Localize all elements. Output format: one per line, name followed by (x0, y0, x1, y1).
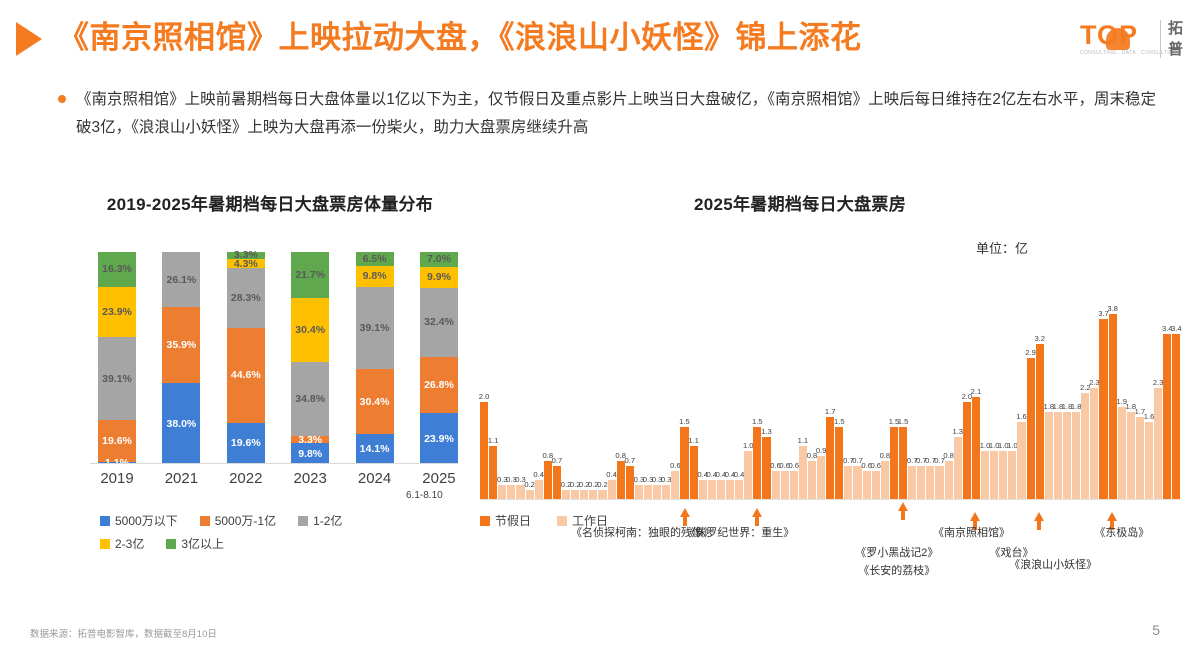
daily-bar: 3.8 (1109, 314, 1117, 500)
segment-value-label: 39.1% (360, 322, 390, 334)
x-axis-label: 2021 (162, 470, 200, 487)
daily-bar-fill (1054, 412, 1062, 500)
daily-bar-value-label: 1.0 (1007, 441, 1018, 450)
daily-bar-fill (772, 471, 780, 500)
unit-label: 单位：亿 (976, 238, 1028, 257)
stacked-segment: 16.3% (98, 252, 136, 287)
stacked-segment: 21.7% (291, 252, 329, 298)
daily-bar: 1.7 (826, 417, 834, 500)
film-annotation-label: 《浪浪山小妖怪》 (1009, 556, 1097, 572)
daily-bar: 0.2 (580, 490, 588, 500)
segment-value-label: 6.5% (363, 253, 387, 265)
daily-bar-fill (617, 461, 625, 500)
daily-bar-fill (926, 466, 934, 500)
daily-bar-value-label: 1.7 (825, 407, 836, 416)
daily-bar-fill (708, 480, 716, 500)
daily-bar-fill (489, 446, 497, 500)
legend-label: 5000万-1亿 (215, 512, 276, 529)
daily-bar-fill (735, 480, 743, 500)
daily-bar-fill (935, 466, 943, 500)
film-annotation-label: 《南京照相馆》 (933, 524, 1010, 540)
daily-bar-value-label: 0.6 (870, 461, 881, 470)
daily-bar-fill (908, 466, 916, 500)
segment-value-label: 7.0% (427, 253, 451, 265)
legend-item[interactable]: 5000万-1亿 (200, 512, 276, 529)
daily-bar: 0.3 (507, 485, 515, 500)
daily-bar-fill (1017, 422, 1025, 500)
daily-bar: 0.3 (662, 485, 670, 500)
daily-bar-fill (781, 471, 789, 500)
segment-value-label: 38.0% (167, 418, 197, 430)
up-arrow-icon (1107, 512, 1117, 521)
segment-value-label: 44.6% (231, 369, 261, 381)
legend-swatch-icon (166, 539, 176, 549)
daily-bar-value-label: 1.3 (952, 427, 963, 436)
daily-bar-fill (1163, 334, 1171, 500)
segment-value-label: 21.7% (295, 269, 325, 281)
daily-bar-fill (1027, 358, 1035, 500)
segment-value-label: 28.3% (231, 292, 261, 304)
daily-bar: 0.4 (699, 480, 707, 500)
daily-bar-fill (1063, 412, 1071, 500)
film-annotation-label: 《长安的荔枝》 (858, 562, 935, 578)
segment-value-label: 14.1% (360, 443, 390, 455)
daily-bar: 0.7 (935, 466, 943, 500)
daily-bar: 0.2 (598, 490, 606, 500)
slide-header: 《南京照相馆》上映拉动大盘，《浪浪山小妖怪》锦上添花 TOP CONSULTIN… (0, 0, 1200, 78)
x-axis-label: 2019 (98, 470, 136, 487)
stacked-segment: 4.3% (227, 259, 265, 268)
daily-bar-fill (589, 490, 597, 500)
legend-row: 2-3亿3亿以上 (100, 535, 490, 552)
film-annotation-label: 《东极岛》 (1094, 524, 1149, 540)
stacked-column: 21.7%30.4%34.8%3.3%9.8% (291, 252, 329, 464)
stacked-segment: 30.4% (356, 369, 394, 433)
daily-bar: 1.0 (744, 451, 752, 500)
segment-value-label: 9.9% (427, 271, 451, 283)
daily-bar-value-label: 1.3 (761, 427, 772, 436)
daily-bar-fill (753, 427, 761, 500)
segment-value-label: 39.1% (102, 373, 132, 385)
daily-bar: 0.4 (608, 480, 616, 500)
stacked-column: 26.1%35.9%38.0% (162, 252, 200, 464)
up-arrow-icon (970, 512, 980, 521)
stacked-segment: 19.6% (98, 420, 136, 462)
daily-bar: 0.3 (644, 485, 652, 500)
film-annotation-label: 《罗小黑战记2》 (855, 544, 938, 560)
film-annotations: 《名侦探柯南：独眼的残像》《侏罗纪世界：重生》《罗小黑战记2》《长安的荔枝》《戏… (470, 500, 1200, 600)
daily-bar-fill (872, 471, 880, 500)
source-note: 数据来源：拓普电影智库，数据截至8月10日 (30, 626, 217, 640)
daily-bar: 0.8 (808, 461, 816, 500)
stacked-segment: 9.8% (356, 266, 394, 287)
slide: 《南京照相馆》上映拉动大盘，《浪浪山小妖怪》锦上添花 TOP CONSULTIN… (0, 0, 1200, 670)
stacked-segment: 35.9% (162, 307, 200, 383)
daily-bar-value-label: 2.9 (1025, 348, 1036, 357)
chart-title-right: 2025年暑期档每日大盘票房 (400, 190, 1200, 215)
legend-label: 2-3亿 (115, 535, 144, 552)
daily-bar-value-label: 3.8 (1107, 304, 1118, 313)
daily-bar-value-label: 0.8 (880, 451, 891, 460)
daily-bar-fill (571, 490, 579, 500)
daily-bar: 0.7 (853, 466, 861, 500)
daily-bar-value-label: 1.5 (679, 417, 690, 426)
daily-bar: 0.7 (908, 466, 916, 500)
daily-bar: 0.2 (571, 490, 579, 500)
segment-value-label: 34.8% (295, 393, 325, 405)
stacked-segment: 39.1% (356, 287, 394, 370)
daily-bar-fill (653, 485, 661, 500)
daily-bar: 2.0 (480, 402, 488, 500)
daily-bar-fill (1145, 422, 1153, 500)
daily-bar-fill (990, 451, 998, 500)
daily-bar: 0.8 (881, 461, 889, 500)
stacked-segment: 32.4% (420, 288, 458, 357)
legend-item[interactable]: 5000万以下 (100, 512, 178, 529)
legend-swatch-icon (100, 539, 110, 549)
stacked-segment: 34.8% (291, 362, 329, 436)
daily-bar: 0.7 (844, 466, 852, 500)
daily-bar-fill (1045, 412, 1053, 500)
daily-bar: 1.8 (1127, 412, 1135, 500)
logo-cn-text: 拓普 (1168, 18, 1192, 60)
daily-bar: 1.3 (954, 437, 962, 500)
segment-value-label: 35.9% (167, 339, 197, 351)
segment-value-label: 19.6% (231, 437, 261, 449)
legend-label: 3亿以上 (181, 535, 224, 552)
daily-bar: 0.6 (872, 471, 880, 500)
daily-bar-fill (963, 402, 971, 500)
x-axis-sublabel-2025: 6.1-8.10 (406, 490, 443, 501)
daily-bar: 0.8 (945, 461, 953, 500)
daily-bar-fill (844, 466, 852, 500)
daily-bar-fill (954, 437, 962, 500)
stacked-segment: 23.9% (98, 287, 136, 338)
daily-bar-fill (544, 461, 552, 500)
daily-bar-fill (717, 480, 725, 500)
daily-bar-fill (945, 461, 953, 500)
daily-bar-value-label: 0.4 (734, 470, 745, 479)
x-axis-label: 2024 (356, 470, 394, 487)
stacked-segment: 7.0% (420, 252, 458, 267)
daily-bar-fill (1109, 314, 1117, 500)
legend-label: 1-2亿 (313, 512, 342, 529)
daily-bar-value-label: 0.4 (606, 470, 617, 479)
daily-bar-fill (1118, 407, 1126, 500)
daily-bar-fill (635, 485, 643, 500)
logo-subtext: CONSULTING . DATA . CONSULTING (1080, 50, 1177, 56)
daily-bar-fill (744, 451, 752, 500)
daily-bar: 3.7 (1099, 319, 1107, 500)
daily-bar-fill (817, 456, 825, 500)
film-annotation-label: 《侏罗纪世界：重生》 (684, 524, 794, 540)
daily-bar: 1.6 (1145, 422, 1153, 500)
segment-value-label: 9.8% (298, 448, 322, 460)
daily-bar-fill (671, 471, 679, 500)
daily-bar: 0.7 (926, 466, 934, 500)
daily-bar: 1.9 (1118, 407, 1126, 500)
x-axis-label: 2025 (420, 470, 458, 487)
daily-bar: 1.1 (489, 446, 497, 500)
daily-bar: 1.0 (1008, 451, 1016, 500)
daily-bar: 0.6 (863, 471, 871, 500)
daily-bar-fill (1172, 334, 1180, 500)
daily-bar: 0.3 (498, 485, 506, 500)
daily-bar-value-label: 1.5 (752, 417, 763, 426)
daily-bar-fill (562, 490, 570, 500)
stacked-segment: 3.3% (291, 436, 329, 443)
segment-value-label: 1.1% (105, 457, 129, 469)
daily-bar-fill (917, 466, 925, 500)
daily-bar: 1.7 (1136, 417, 1144, 500)
bullet-text: 《南京照相馆》上映前暑期档每日大盘体量以1亿以下为主，仅节假日及重点影片上映当日… (76, 86, 1156, 142)
brand-logo: TOP CONSULTING . DATA . CONSULTING 拓普 (1080, 14, 1192, 66)
daily-bar-fill (580, 490, 588, 500)
title-arrow-icon (16, 22, 42, 56)
daily-bar-value-label: 1.6 (1016, 412, 1027, 421)
daily-bar: 0.3 (635, 485, 643, 500)
daily-bars: 2.01.10.30.30.30.20.40.80.70.20.20.20.20… (480, 290, 1180, 500)
daily-bar-fill (498, 485, 506, 500)
daily-bar: 0.9 (817, 456, 825, 500)
daily-bar: 3.4 (1163, 334, 1171, 500)
daily-bar: 0.3 (653, 485, 661, 500)
daily-bar-value-label: 0.8 (943, 451, 954, 460)
daily-bar: 0.6 (781, 471, 789, 500)
daily-bar-value-label: 0.7 (625, 456, 636, 465)
daily-bar-value-label: 2.1 (971, 387, 982, 396)
stacked-segment: 26.8% (420, 357, 458, 414)
legend-swatch-icon (298, 516, 308, 526)
daily-bar-value-label: 1.6 (1144, 412, 1155, 421)
logo-divider (1160, 20, 1161, 58)
daily-bar: 0.4 (708, 480, 716, 500)
daily-bar-fill (507, 485, 515, 500)
segment-value-label: 26.1% (167, 274, 197, 286)
daily-bar: 1.0 (981, 451, 989, 500)
x-axis-label: 2022 (227, 470, 265, 487)
daily-bar-fill (1008, 451, 1016, 500)
daily-bar: 0.6 (772, 471, 780, 500)
stacked-segment: 38.0% (162, 383, 200, 464)
daily-bar: 1.0 (999, 451, 1007, 500)
daily-bar: 0.2 (589, 490, 597, 500)
stacked-segment: 44.6% (227, 328, 265, 422)
daily-bar-value-label: 1.1 (798, 436, 809, 445)
stacked-segment: 14.1% (356, 434, 394, 464)
legend-swatch-icon (100, 516, 110, 526)
stacked-segment: 30.4% (291, 298, 329, 362)
daily-bar: 0.2 (526, 490, 534, 500)
x-axis-label: 2023 (291, 470, 329, 487)
stacked-segment: 9.9% (420, 267, 458, 288)
daily-bar-fill (1127, 412, 1135, 500)
daily-bar-fill (853, 466, 861, 500)
stacked-segment: 1.1% (98, 462, 136, 464)
daily-bar-value-label: 1.0 (743, 441, 754, 450)
daily-bar-fill (826, 417, 834, 500)
daily-bar: 1.0 (990, 451, 998, 500)
daily-bar-fill (608, 480, 616, 500)
daily-bar-fill (644, 485, 652, 500)
daily-bar-value-label: 2.0 (479, 392, 490, 401)
daily-bar-value-label: 2.3 (1153, 378, 1164, 387)
daily-bar-fill (1136, 417, 1144, 500)
stacked-segment: 6.5% (356, 252, 394, 266)
daily-bar-fill (999, 451, 1007, 500)
daily-bar-fill (1036, 344, 1044, 500)
daily-bar-fill (662, 485, 670, 500)
daily-bar-value-label: 3.4 (1171, 324, 1182, 333)
up-arrow-icon (898, 502, 908, 511)
daily-bar: 1.5 (890, 427, 898, 500)
daily-bar-value-label: 0.2 (524, 480, 535, 489)
daily-bar: 0.6 (671, 471, 679, 500)
daily-bar-value-label: 0.7 (552, 456, 563, 465)
daily-bar-fill (726, 480, 734, 500)
up-arrow-icon (1034, 512, 1044, 521)
logo-blob-icon (1106, 28, 1130, 50)
page-number: 5 (1152, 622, 1160, 638)
stacked-segment: 9.8% (291, 443, 329, 464)
daily-bar-value-label: 1.8 (1071, 402, 1082, 411)
daily-bar-fill (598, 490, 606, 500)
up-arrow-icon (752, 508, 762, 517)
daily-bar: 2.9 (1027, 358, 1035, 500)
daily-bar-fill (535, 480, 543, 500)
daily-bar: 0.2 (562, 490, 570, 500)
daily-bar: 0.8 (544, 461, 552, 500)
daily-bar: 1.6 (1017, 422, 1025, 500)
daily-bar-value-label: 0.3 (661, 475, 672, 484)
daily-bar: 0.8 (617, 461, 625, 500)
stacked-bar-plot: 16.3%23.9%39.1%19.6%1.1%26.1%35.9%38.0%3… (98, 252, 458, 464)
legend-label: 5000万以下 (115, 512, 178, 529)
daily-bar: 0.4 (726, 480, 734, 500)
legend-item[interactable]: 1-2亿 (298, 512, 342, 529)
stacked-legend: 5000万以下5000万-1亿1-2亿2-3亿3亿以上 (100, 512, 490, 558)
daily-bar-fill (790, 471, 798, 500)
daily-bar: 2.0 (963, 402, 971, 500)
chart-daily-boxoffice: 2025年暑期档每日大盘票房 单位：亿 2.01.10.30.30.30.20.… (470, 190, 1200, 600)
stacked-x-axis: 201920212022202320242025 (98, 470, 458, 487)
daily-bar: 3.4 (1172, 334, 1180, 500)
daily-bar-fill (890, 427, 898, 500)
daily-bar-fill (981, 451, 989, 500)
daily-bar-fill (699, 480, 707, 500)
daily-bar-value-label: 3.2 (1034, 334, 1045, 343)
segment-value-label: 23.9% (424, 433, 454, 445)
segment-value-label: 32.4% (424, 316, 454, 328)
daily-bar-fill (1072, 412, 1080, 500)
up-arrow-icon (680, 508, 690, 517)
daily-bar: 2.3 (1154, 388, 1162, 500)
segment-value-label: 23.9% (102, 306, 132, 318)
daily-bar-fill (863, 471, 871, 500)
legend-item[interactable]: 3亿以上 (166, 535, 224, 552)
stacked-segment: 19.6% (227, 423, 265, 465)
stacked-segment: 39.1% (98, 337, 136, 420)
daily-bar-fill (1090, 388, 1098, 500)
daily-bar-value-label: 1.5 (834, 417, 845, 426)
daily-bar: 0.7 (917, 466, 925, 500)
daily-bar: 1.8 (1045, 412, 1053, 500)
daily-bar: 0.4 (717, 480, 725, 500)
daily-bar: 2.2 (1081, 393, 1089, 500)
segment-value-label: 30.4% (360, 396, 390, 408)
daily-bar-fill (881, 461, 889, 500)
daily-bar: 1.5 (753, 427, 761, 500)
daily-bar-fill (480, 402, 488, 500)
bullet-dot-icon (58, 95, 66, 103)
stacked-segment: 28.3% (227, 268, 265, 328)
segment-value-label: 19.6% (102, 435, 132, 447)
legend-item[interactable]: 2-3亿 (100, 535, 144, 552)
daily-bar-fill (1081, 393, 1089, 500)
daily-bar: 3.2 (1036, 344, 1044, 500)
daily-bar-fill (1154, 388, 1162, 500)
daily-bar: 0.6 (790, 471, 798, 500)
stacked-column: 7.0%9.9%32.4%26.8%23.9% (420, 252, 458, 464)
daily-bar-value-label: 0.4 (533, 470, 544, 479)
legend-swatch-icon (200, 516, 210, 526)
daily-bar-value-label: 0.6 (670, 461, 681, 470)
segment-value-label: 16.3% (102, 263, 132, 275)
daily-bar-fill (808, 461, 816, 500)
daily-bar-value-label: 1.1 (488, 436, 499, 445)
daily-bar-fill (1099, 319, 1107, 500)
daily-bar: 1.8 (1063, 412, 1071, 500)
daily-bar: 0.4 (535, 480, 543, 500)
chart-stacked-share: 2019-2025年暑期档每日大盘票房体量分布 16.3%23.9%39.1%1… (60, 190, 490, 560)
segment-value-label: 26.8% (424, 379, 454, 391)
segment-value-label: 30.4% (295, 324, 325, 336)
stacked-segment: 23.9% (420, 413, 458, 464)
daily-bar-value-label: 0.9 (816, 446, 827, 455)
stacked-column: 16.3%23.9%39.1%19.6%1.1% (98, 252, 136, 464)
legend-row: 5000万以下5000万-1亿1-2亿 (100, 512, 490, 529)
daily-bar: 2.3 (1090, 388, 1098, 500)
stacked-segment: 26.1% (162, 252, 200, 307)
stacked-column: 3.3%4.3%28.3%44.6%19.6% (227, 252, 265, 464)
daily-bar-value-label: 2.3 (1089, 378, 1100, 387)
daily-bar-value-label: 1.5 (898, 417, 909, 426)
daily-bar: 1.8 (1054, 412, 1062, 500)
daily-bar: 0.4 (735, 480, 743, 500)
daily-bar: 1.8 (1072, 412, 1080, 500)
daily-bar-value-label: 0.2 (597, 480, 608, 489)
page-title: 《南京照相馆》上映拉动大盘，《浪浪山小妖怪》锦上添花 (58, 12, 862, 57)
daily-bar-value-label: 0.6 (788, 461, 799, 470)
daily-bar-plot: 2.01.10.30.30.30.20.40.80.70.20.20.20.20… (480, 290, 1180, 500)
segment-value-label: 9.8% (363, 270, 387, 282)
stacked-column: 6.5%9.8%39.1%30.4%14.1% (356, 252, 394, 464)
daily-bar-fill (526, 490, 534, 500)
daily-bar-value-label: 1.1 (688, 436, 699, 445)
